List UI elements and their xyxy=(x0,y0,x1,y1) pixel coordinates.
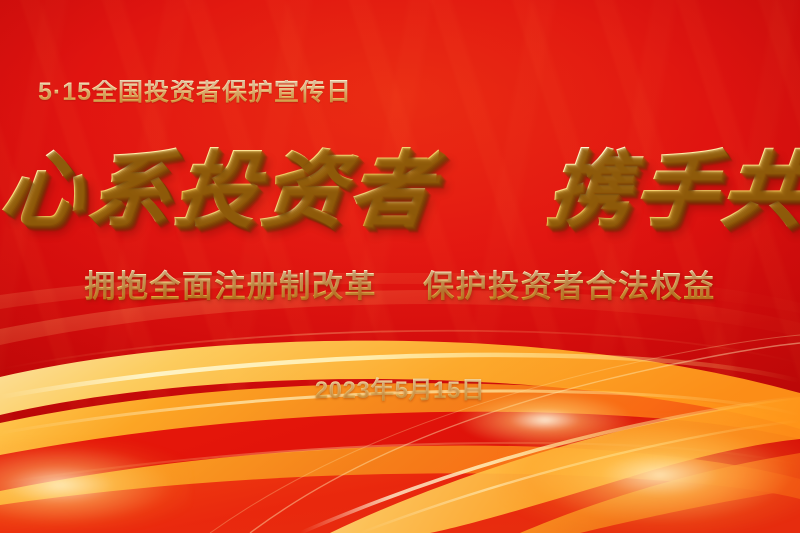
headline: 心系投资者 携手共行动 xyxy=(0,146,800,233)
headline-right: 携手共行动 xyxy=(542,146,800,233)
text-layer: 5·15全国投资者保护宣传日 心系投资者 携手共行动 拥抱全面注册制改革 保护投… xyxy=(0,0,800,533)
subtitle-right: 保护投资者合法权益 xyxy=(423,268,716,305)
eyebrow-text: 5·15全国投资者保护宣传日 xyxy=(38,80,352,105)
subtitle-left: 拥抱全面注册制改革 xyxy=(84,268,377,305)
date-stamp: 2023年5月15日 xyxy=(0,370,800,405)
subtitle: 拥抱全面注册制改革 保护投资者合法权益 xyxy=(0,268,800,305)
date-text: 2023年5月15日 xyxy=(315,370,485,405)
headline-left: 心系投资者 xyxy=(0,146,440,233)
poster-canvas: 5·15全国投资者保护宣传日 心系投资者 携手共行动 拥抱全面注册制改革 保护投… xyxy=(0,0,800,533)
